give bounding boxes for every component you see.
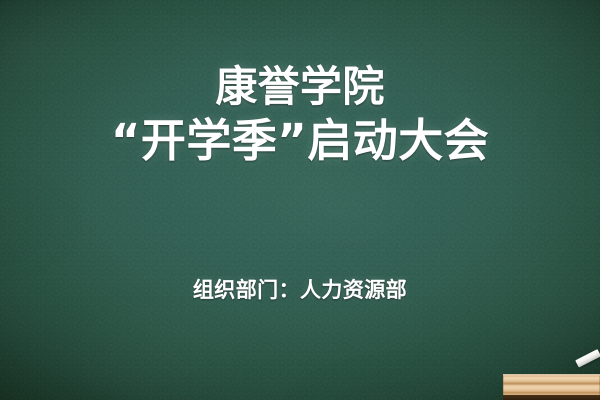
chalkboard-vignette xyxy=(0,0,600,400)
title-line-1: 康誉学院 xyxy=(0,62,600,112)
title-line-2: “开学季”启动大会 xyxy=(0,112,600,170)
chalk-ledge-shadow xyxy=(503,395,600,400)
slide-title: 康誉学院 “开学季”启动大会 xyxy=(0,62,600,170)
chalk-ledge-lip xyxy=(503,374,600,376)
wooden-chalk-ledge xyxy=(503,374,600,400)
title-slide: 康誉学院 “开学季”启动大会 组织部门：人力资源部 xyxy=(0,0,600,400)
slide-subtitle: 组织部门：人力资源部 xyxy=(0,276,600,304)
chalk-ledge-body xyxy=(503,374,600,396)
